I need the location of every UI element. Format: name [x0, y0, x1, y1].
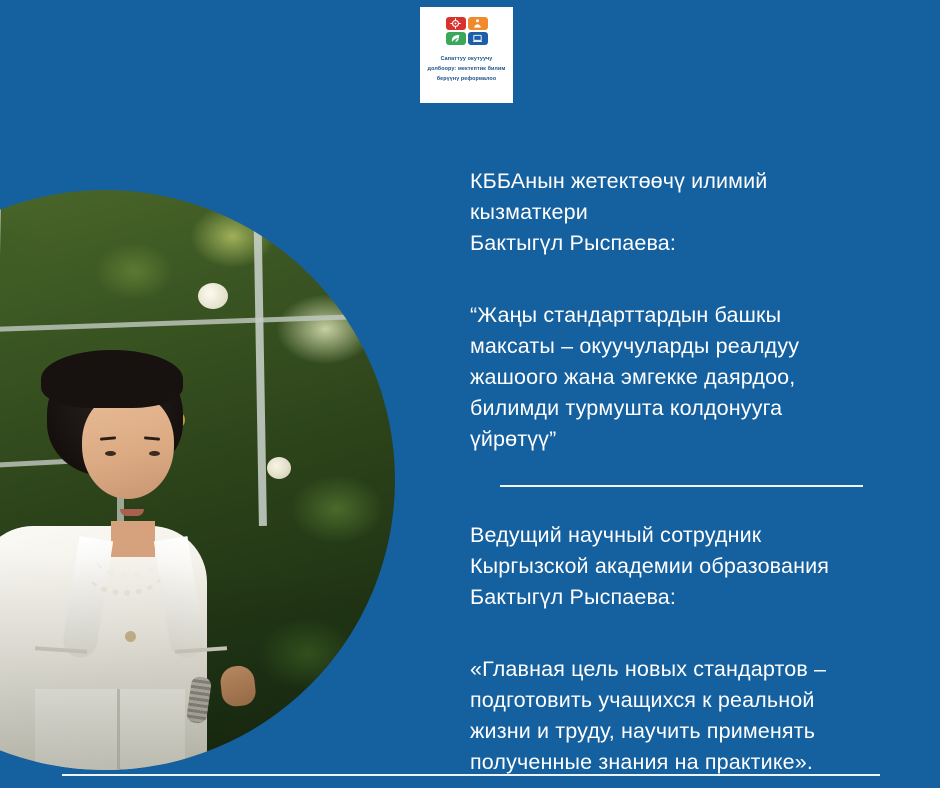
attribution-russian: Ведущий научный сотрудник Кыргызской ака… [470, 520, 882, 613]
logo-caption: Сапаттуу окутуучу долбоору: мектептик би… [426, 54, 508, 84]
book-person-icon [468, 17, 488, 30]
poster-canvas: Сапаттуу окутуучу долбоору: мектептик би… [0, 0, 940, 788]
quote-russian: «Главная цель новых стандартов – подгото… [470, 654, 882, 778]
text-column: КББАнын жетектөөчү илимий кызматкери Бак… [470, 166, 882, 778]
section-divider [500, 485, 863, 487]
attribution-kyrgyz: КББАнын жетектөөчү илимий кызматкери Бак… [470, 166, 882, 259]
portrait-image [0, 190, 395, 770]
portrait-photo-circle [0, 190, 395, 770]
organization-logo-card: Сапаттуу окутуучу долбоору: мектептик би… [420, 7, 513, 103]
leaf-icon [446, 32, 466, 45]
laptop-icon [468, 32, 488, 45]
logo-icon-grid [446, 17, 488, 45]
bottom-divider [62, 774, 880, 776]
gear-icon [446, 17, 466, 30]
quote-kyrgyz: “Жаңы стандарттардын башкы максаты – оку… [470, 300, 882, 455]
photo-vignette [0, 190, 395, 770]
